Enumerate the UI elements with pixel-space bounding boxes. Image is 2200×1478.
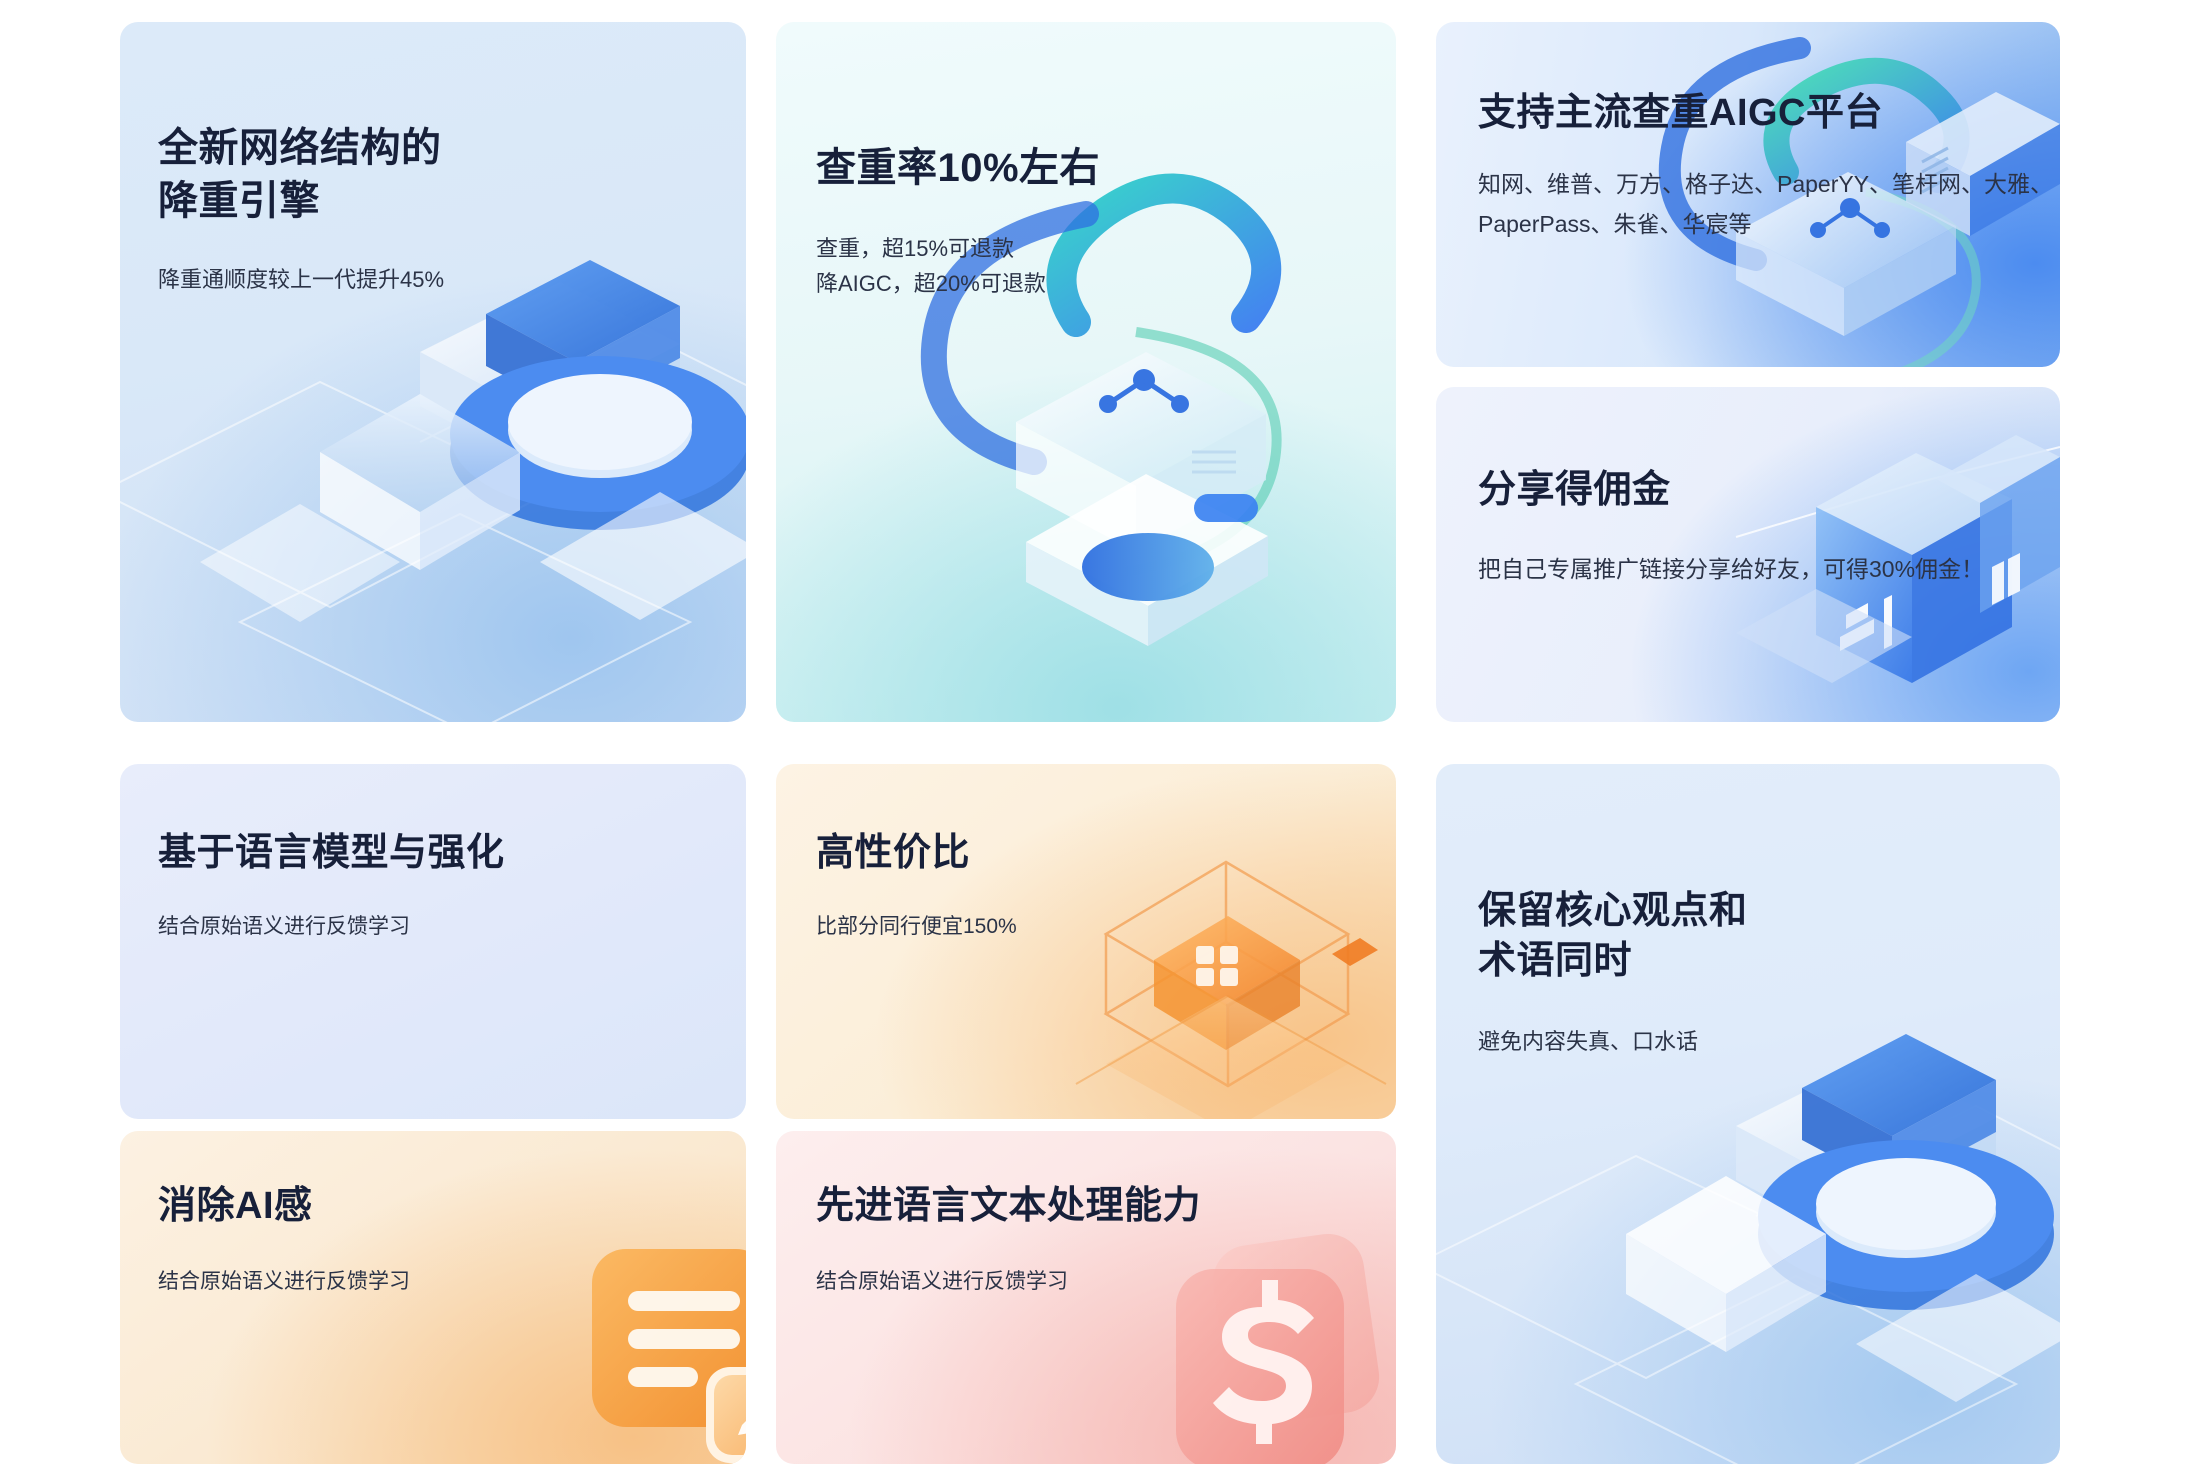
card-text-block: 基于语言模型与强化 结合原始语义进行反馈学习 (158, 828, 505, 944)
card-title: 先进语言文本处理能力 (816, 1181, 1201, 1231)
card-text-block: 分享得佣金 把自己专属推广链接分享给好友，可得30%佣金！ (1478, 465, 2048, 588)
card-text-block: 先进语言文本处理能力 结合原始语义进行反馈学习 (816, 1181, 1201, 1299)
card-retain-core-viewpoints[interactable]: 保留核心观点和 术语同时 避免内容失真、口水话 (1436, 764, 2060, 1464)
card-title: 基于语言模型与强化 (158, 828, 505, 878)
card-title: 查重率10%左右 (816, 142, 1100, 195)
card-subtitle: 知网、维普、万方、格子达、PaperYY、笔杆网、大雅、PaperPass、朱雀… (1478, 164, 2060, 245)
card-text-block: 全新网络结构的 降重引擎 降重通顺度较上一代提升45% (158, 122, 444, 297)
card-subtitle: 结合原始语义进行反馈学习 (816, 1265, 1201, 1299)
card-text-block: 高性价比 比部分同行便宜150% (816, 828, 1017, 944)
card-title: 保留核心观点和 术语同时 (1478, 886, 1748, 986)
card-title: 全新网络结构的 降重引擎 (158, 122, 444, 228)
card-advanced-text-processing[interactable]: 先进语言文本处理能力 结合原始语义进行反馈学习 (776, 1131, 1396, 1464)
card-text-block: 保留核心观点和 术语同时 避免内容失真、口水话 (1478, 886, 1748, 1060)
card-share-commission[interactable]: 分享得佣金 把自己专属推广链接分享给好友，可得30%佣金！ (1436, 387, 2060, 722)
isometric-share-node-glass-box-illustration (776, 22, 1396, 722)
card-title: 分享得佣金 (1478, 465, 2048, 515)
card-subtitle: 结合原始语义进行反馈学习 (158, 1265, 410, 1299)
card-subtitle: 降重通顺度较上一代提升45% (158, 262, 444, 298)
card-subtitle: 比部分同行便宜150% (816, 910, 1017, 944)
card-new-network-engine[interactable]: 全新网络结构的 降重引擎 降重通顺度较上一代提升45% (120, 22, 746, 722)
card-title: 消除AI感 (158, 1181, 410, 1231)
card-supported-platforms[interactable]: 支持主流查重AIGC平台 知网、维普、万方、格子达、PaperYY、笔杆网、大雅… (1436, 22, 2060, 367)
card-subtitle: 避免内容失真、口水话 (1478, 1024, 1748, 1060)
card-duplicate-rate[interactable]: 查重率10%左右 查重，超15%可退款 降AIGC，超20%可退款 (776, 22, 1396, 722)
card-subtitle: 查重，超15%可退款 降AIGC，超20%可退款 (816, 231, 1100, 302)
card-language-model-reinforcement[interactable]: 基于语言模型与强化 结合原始语义进行反馈学习 (120, 764, 746, 1119)
card-subtitle: 把自己专属推广链接分享给好友，可得30%佣金！ (1478, 551, 2048, 588)
isometric-blue-arch-blocks-illustration (1436, 764, 2060, 1464)
feature-bento-grid: 全新网络结构的 降重引擎 降重通顺度较上一代提升45% (0, 0, 2200, 1478)
card-text-block: 查重率10%左右 查重，超15%可退款 降AIGC，超20%可退款 (816, 142, 1100, 302)
card-text-block: 支持主流查重AIGC平台 知网、维普、万方、格子达、PaperYY、笔杆网、大雅… (1478, 88, 2060, 245)
card-cost-effectiveness[interactable]: 高性价比 比部分同行便宜150% (776, 764, 1396, 1119)
card-remove-ai-feel[interactable]: 消除AI感 结合原始语义进行反馈学习 (120, 1131, 746, 1464)
card-title: 高性价比 (816, 828, 1017, 878)
card-subtitle: 结合原始语义进行反馈学习 (158, 910, 505, 944)
card-text-block: 消除AI感 结合原始语义进行反馈学习 (158, 1181, 410, 1299)
card-title: 支持主流查重AIGC平台 (1478, 88, 2060, 138)
